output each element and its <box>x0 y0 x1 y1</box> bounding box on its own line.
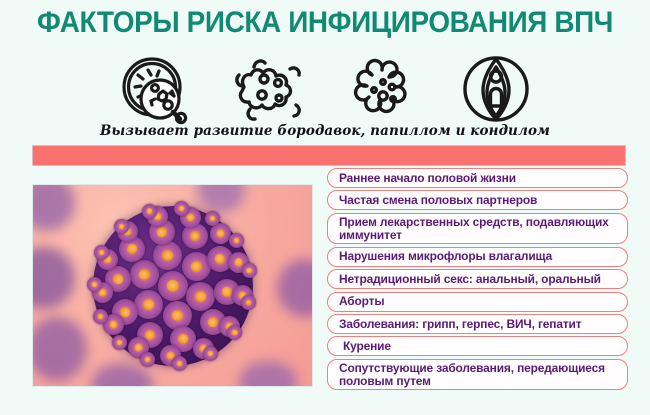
capsomere <box>203 346 218 361</box>
subtitle: Вызывает развитие бородавок, папиллом и … <box>0 123 650 139</box>
risk-factor-item: Аборты <box>327 292 628 312</box>
bacteria-amoeba-icon <box>230 51 306 127</box>
page-title: ФАКТОРЫ РИСКА ИНФИЦИРОВАНИЯ ВПЧ <box>23 6 628 40</box>
risk-factor-label: Курение <box>343 340 391 353</box>
risk-factor-list: Раннее начало половой жизниЧастая смена … <box>327 168 628 393</box>
capsomere <box>93 309 108 324</box>
hpv-virion-photo <box>32 184 313 387</box>
capsomere <box>130 260 159 289</box>
accent-divider-bar <box>32 145 626 166</box>
risk-factor-label: Раннее начало половой жизни <box>339 172 516 185</box>
capsomere <box>140 352 155 367</box>
risk-factor-label: Нетрадиционный секс: анальный, оральный <box>339 273 601 286</box>
capsomere <box>163 301 192 330</box>
capsomere <box>229 233 244 248</box>
capsomere <box>142 204 157 219</box>
capsomere <box>227 325 242 340</box>
risk-factor-item: Курение <box>327 336 628 356</box>
capsomere <box>242 263 257 278</box>
risk-factor-item: Заболевания: грипп, герпес, ВИЧ, гепатит <box>327 314 628 334</box>
risk-factor-label: Нарушения микрофлоры влагалища <box>339 250 552 263</box>
capsomere <box>174 201 189 216</box>
risk-factor-item: Прием лекарственных средств, подавляющих… <box>327 213 628 245</box>
risk-factor-item: Нарушения микрофлоры влагалища <box>327 247 628 267</box>
petri-dish-magnifier-icon <box>116 51 192 127</box>
capsomere <box>158 271 188 301</box>
risk-factor-item: Раннее начало половой жизни <box>327 168 628 188</box>
risk-factor-item: Сопутствующие заболевания, передающиеся … <box>327 359 628 391</box>
risk-factor-label: Заболевания: грипп, герпес, ВИЧ, гепатит <box>339 318 581 331</box>
risk-factor-item: Частая смена половых партнеров <box>327 190 628 210</box>
icon-row <box>0 50 650 128</box>
cervix-anatomy-icon <box>458 51 534 127</box>
capsomere <box>114 219 129 234</box>
risk-factor-label: Частая смена половых партнеров <box>339 194 537 207</box>
capsomere <box>87 277 102 292</box>
capsomere <box>205 211 220 226</box>
risk-factor-label: Прием лекарственных средств, подавляющих… <box>339 216 614 242</box>
risk-factor-item: Нетрадиционный секс: анальный, оральный <box>327 269 628 289</box>
main-virion <box>93 206 253 366</box>
risk-factor-label: Сопутствующие заболевания, передающиеся … <box>339 362 614 388</box>
risk-factor-label: Аборты <box>339 295 384 308</box>
capsomere <box>172 356 187 371</box>
virus-spiked-icon <box>344 51 420 127</box>
